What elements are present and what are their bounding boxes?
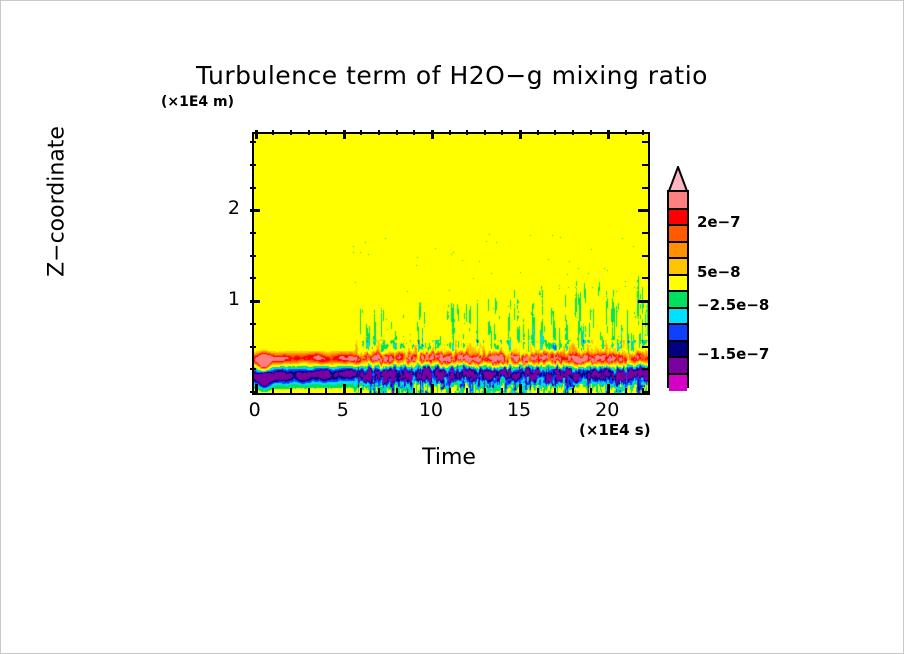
x-major-tick xyxy=(343,384,346,393)
y-minor-tick xyxy=(250,368,256,370)
page-title: Turbulence term of H2O−g mixing ratio xyxy=(1,61,903,90)
x-minor-tick-top xyxy=(642,130,644,135)
y-major-tick-right xyxy=(638,300,648,303)
y-minor-tick-right xyxy=(642,164,648,166)
x-major-tick-top xyxy=(607,130,610,139)
x-minor-tick xyxy=(501,388,503,393)
x-minor-tick-top xyxy=(554,130,556,135)
y-tick-label: 1 xyxy=(206,288,240,310)
colorbar-bands xyxy=(667,190,689,388)
x-minor-tick-top xyxy=(466,130,468,135)
y-major-tick xyxy=(250,209,260,212)
y-minor-tick xyxy=(250,346,256,348)
y-minor-tick xyxy=(250,391,256,393)
y-minor-tick xyxy=(250,323,256,325)
x-minor-tick xyxy=(572,388,574,393)
x-minor-tick xyxy=(290,388,292,393)
colorbar-tick-label: 5e−8 xyxy=(697,263,741,281)
colorbar-band-divider xyxy=(669,208,687,210)
x-minor-tick xyxy=(396,388,398,393)
x-minor-tick-top xyxy=(590,130,592,135)
x-minor-tick-top xyxy=(501,130,503,135)
y-minor-tick-right xyxy=(642,277,648,279)
x-major-tick xyxy=(519,384,522,393)
colorbar-band-divider xyxy=(669,323,687,325)
y-minor-tick-right xyxy=(642,346,648,348)
x-minor-tick-top xyxy=(625,130,627,135)
y-minor-tick xyxy=(250,187,256,189)
x-minor-tick-top xyxy=(272,130,274,135)
x-minor-tick-top xyxy=(413,130,415,135)
y-major-tick xyxy=(250,300,260,303)
x-tick-label: 20 xyxy=(587,399,627,421)
colorbar-band-divider xyxy=(669,274,687,276)
x-major-tick-top xyxy=(343,130,346,139)
y-minor-tick xyxy=(250,277,256,279)
y-minor-tick-right xyxy=(642,255,648,257)
x-minor-tick xyxy=(537,388,539,393)
x-tick-label: 0 xyxy=(235,399,275,421)
figure-canvas: Turbulence term of H2O−g mixing ratio (×… xyxy=(1,1,903,653)
x-minor-tick xyxy=(413,388,415,393)
x-minor-tick xyxy=(554,388,556,393)
x-minor-tick-top xyxy=(396,130,398,135)
x-tick-label: 10 xyxy=(411,399,451,421)
x-minor-tick-top xyxy=(290,130,292,135)
x-major-tick xyxy=(431,384,434,393)
colorbar-band-divider xyxy=(669,241,687,243)
colorbar-band xyxy=(669,374,687,391)
x-minor-tick-top xyxy=(449,130,451,135)
colorbar[interactable] xyxy=(667,166,689,388)
y-axis-unit-label: (×1E4 m) xyxy=(161,94,234,110)
colorbar-top-arrow-icon xyxy=(667,166,689,192)
x-minor-tick-top xyxy=(572,130,574,135)
x-minor-tick-top xyxy=(484,130,486,135)
contour-plot-area[interactable] xyxy=(252,132,650,395)
y-minor-tick-right xyxy=(642,141,648,143)
y-tick-label: 2 xyxy=(206,197,240,219)
x-minor-tick xyxy=(625,388,627,393)
y-minor-tick-right xyxy=(642,323,648,325)
x-minor-tick-top xyxy=(325,130,327,135)
x-minor-tick xyxy=(325,388,327,393)
colorbar-tick-label: −2.5e−8 xyxy=(697,296,769,314)
x-tick-label: 5 xyxy=(323,399,363,421)
x-minor-tick-top xyxy=(360,130,362,135)
x-major-tick-top xyxy=(431,130,434,139)
x-minor-tick xyxy=(466,388,468,393)
y-minor-tick-right xyxy=(642,232,648,234)
x-minor-tick xyxy=(449,388,451,393)
x-axis-unit-label: (×1E4 s) xyxy=(579,421,651,439)
x-minor-tick-top xyxy=(378,130,380,135)
colorbar-band-divider xyxy=(669,340,687,342)
x-minor-tick xyxy=(308,388,310,393)
colorbar-tick-label: −1.5e−7 xyxy=(697,345,769,363)
x-major-tick xyxy=(607,384,610,393)
x-minor-tick xyxy=(590,388,592,393)
y-minor-tick-right xyxy=(642,391,648,393)
y-minor-tick xyxy=(250,232,256,234)
y-axis-title: Z−coordinate xyxy=(45,97,70,307)
x-minor-tick xyxy=(484,388,486,393)
x-major-tick-top xyxy=(255,130,258,139)
x-minor-tick xyxy=(360,388,362,393)
x-minor-tick-top xyxy=(308,130,310,135)
colorbar-band-divider xyxy=(669,290,687,292)
colorbar-band-divider xyxy=(669,224,687,226)
x-minor-tick-top xyxy=(537,130,539,135)
colorbar-band-divider xyxy=(669,373,687,375)
x-minor-tick xyxy=(378,388,380,393)
x-axis-title: Time xyxy=(252,445,646,470)
y-minor-tick-right xyxy=(642,368,648,370)
colorbar-tick-label: 2e−7 xyxy=(697,213,741,231)
y-minor-tick xyxy=(250,141,256,143)
colorbar-band-divider xyxy=(669,356,687,358)
y-minor-tick xyxy=(250,164,256,166)
x-minor-tick xyxy=(272,388,274,393)
colorbar-band-divider xyxy=(669,307,687,309)
y-minor-tick xyxy=(250,255,256,257)
contour-field xyxy=(254,134,648,393)
y-major-tick-right xyxy=(638,209,648,212)
y-minor-tick-right xyxy=(642,187,648,189)
x-major-tick-top xyxy=(519,130,522,139)
x-tick-label: 15 xyxy=(499,399,539,421)
colorbar-band-divider xyxy=(669,257,687,259)
